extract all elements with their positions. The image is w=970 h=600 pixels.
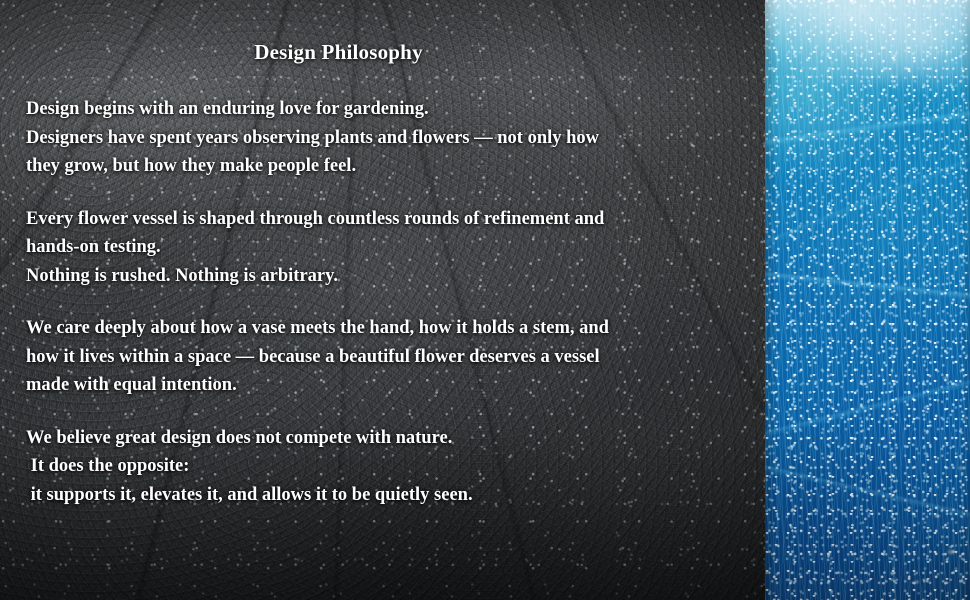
paragraph-4-line-1: We believe great design does not compete…: [26, 424, 747, 453]
stone-texture-panel: Design Philosophy Design begins with an …: [0, 0, 765, 600]
paragraph-3-line-3: made with equal intention.: [26, 371, 747, 400]
page-title: Design Philosophy: [26, 40, 747, 65]
paragraph-4-line-3: it supports it, elevates it, and allows …: [26, 481, 747, 510]
paragraph-3-line-1: We care deeply about how a vase meets th…: [26, 314, 747, 343]
paragraph-1: Design begins with an enduring love for …: [26, 95, 747, 181]
paragraph-1-line-2: Designers have spent years observing pla…: [26, 124, 747, 153]
paragraph-3-line-2: how it lives within a space — because a …: [26, 343, 747, 372]
slide-text-block: Design Philosophy Design begins with an …: [0, 0, 765, 600]
blue-glitter-texture-panel: [765, 0, 970, 600]
paragraph-1-line-3: they grow, but how they make people feel…: [26, 152, 747, 181]
paragraph-2: Every flower vessel is shaped through co…: [26, 205, 747, 291]
design-philosophy-slide: Design Philosophy Design begins with an …: [0, 0, 970, 600]
paragraph-4: We believe great design does not compete…: [26, 424, 747, 510]
paragraph-2-line-2: hands-on testing.: [26, 233, 747, 262]
paragraph-2-line-3: Nothing is rushed. Nothing is arbitrary.: [26, 262, 747, 291]
paragraph-4-line-2: It does the opposite:: [26, 452, 747, 481]
paragraph-1-line-1: Design begins with an enduring love for …: [26, 95, 747, 124]
paragraph-3: We care deeply about how a vase meets th…: [26, 314, 747, 400]
blue-vignette-layer: [765, 0, 970, 600]
paragraph-2-line-1: Every flower vessel is shaped through co…: [26, 205, 747, 234]
